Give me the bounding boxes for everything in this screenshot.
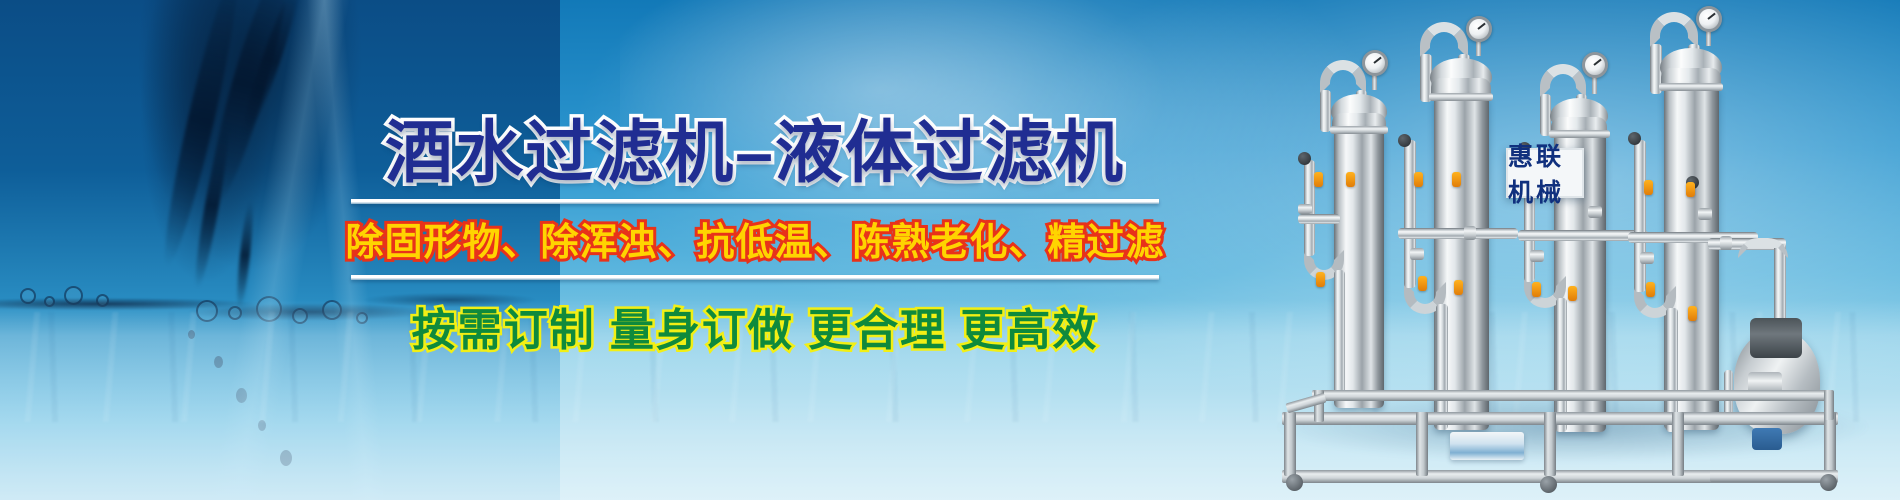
pump-motor — [1750, 318, 1802, 358]
column-4-knob — [1688, 306, 1697, 321]
product-banner: 酒水过滤机–液体过滤机 除固形物、除浑浊、抗低温、陈熟老化、精过滤 按需订制 量… — [0, 0, 1900, 500]
column-4-knob — [1644, 180, 1653, 195]
column-1-knob — [1346, 172, 1355, 187]
frame-post — [1824, 412, 1836, 476]
outlet-joint — [1720, 236, 1732, 250]
column-1-flange — [1330, 126, 1388, 134]
caster-wheel — [1820, 474, 1837, 491]
divider-bottom — [351, 275, 1159, 280]
caster-wheel — [1286, 474, 1303, 491]
column-2-pressure-gauge — [1466, 16, 1492, 42]
column-2-valve — [1398, 134, 1411, 147]
frame-rail-pump-side — [1710, 470, 1838, 482]
column-2-arch-pipe — [1420, 22, 1468, 58]
column-3-knob — [1568, 286, 1577, 301]
caster-wheel — [1540, 476, 1557, 493]
column-3-joint — [1588, 206, 1602, 218]
frame-post-back — [1824, 390, 1834, 420]
column-1-valve — [1298, 152, 1311, 165]
machine-brand-sign: 惠联机械 — [1506, 148, 1584, 198]
water-streak — [155, 0, 248, 269]
water-streak — [236, 0, 305, 139]
column-4-knob — [1646, 282, 1655, 297]
column-4-arch-pipe — [1650, 12, 1698, 48]
column-3-pressure-gauge — [1582, 52, 1608, 78]
banner-copy: 酒水过滤机–液体过滤机 除固形物、除浑浊、抗低温、陈熟老化、精过滤 按需订制 量… — [340, 118, 1170, 358]
column-1-return-pipe — [1334, 270, 1345, 400]
column-4-joint — [1640, 252, 1654, 264]
divider-top — [351, 199, 1159, 204]
frame-post — [1416, 412, 1428, 476]
frame-post — [1284, 412, 1296, 476]
column-2-knob — [1418, 276, 1427, 291]
banner-title: 酒水过滤机–液体过滤机 — [340, 118, 1170, 189]
column-4-joint — [1698, 208, 1712, 220]
column-1-branch-pipe — [1298, 214, 1340, 224]
water-streak — [234, 200, 255, 310]
frame-rail-top-back — [1312, 390, 1832, 401]
frame-post — [1672, 412, 1684, 476]
column-1-pressure-gauge — [1362, 50, 1388, 76]
column-2-knob — [1452, 172, 1461, 187]
pump-base — [1752, 428, 1782, 450]
column-2-knob — [1454, 280, 1463, 295]
column-4-knob — [1686, 182, 1695, 197]
column-3-arch-pipe — [1540, 64, 1586, 98]
column-1-knob — [1314, 172, 1323, 187]
column-1-arch-pipe — [1320, 60, 1366, 94]
column-4-valve — [1628, 132, 1641, 145]
column-3-knob — [1532, 282, 1541, 297]
frame-rail-top-front — [1282, 412, 1838, 425]
liquid-filter-machine: 惠联机械 — [1268, 0, 1900, 500]
column-3-joint — [1530, 250, 1544, 262]
column-4-down-pipe — [1634, 140, 1646, 292]
column-2-knob — [1414, 172, 1423, 187]
column-1-joint — [1298, 204, 1312, 214]
column-4-flange — [1659, 83, 1723, 91]
frame-post — [1544, 412, 1556, 476]
banner-subtitle: 除固形物、除浑浊、抗低温、陈熟老化、精过滤 — [340, 211, 1170, 266]
column-2-flange — [1429, 93, 1493, 101]
water-streak — [198, 0, 300, 210]
control-box — [1450, 432, 1524, 460]
column-2-joint — [1410, 248, 1424, 260]
column-1-knob — [1316, 272, 1325, 287]
machine-brand-label: 惠联机械 — [1508, 137, 1582, 209]
column-2-down-pipe — [1404, 140, 1416, 288]
water-streak — [190, 120, 233, 290]
column-4-pressure-gauge — [1696, 6, 1722, 32]
column-1-inlet-pipe — [1320, 90, 1331, 132]
banner-tagline: 按需订制 量身订做 更合理 更高效 — [340, 294, 1170, 358]
column-2-joint — [1464, 226, 1476, 240]
column-2-cross-pipe — [1398, 228, 1518, 239]
